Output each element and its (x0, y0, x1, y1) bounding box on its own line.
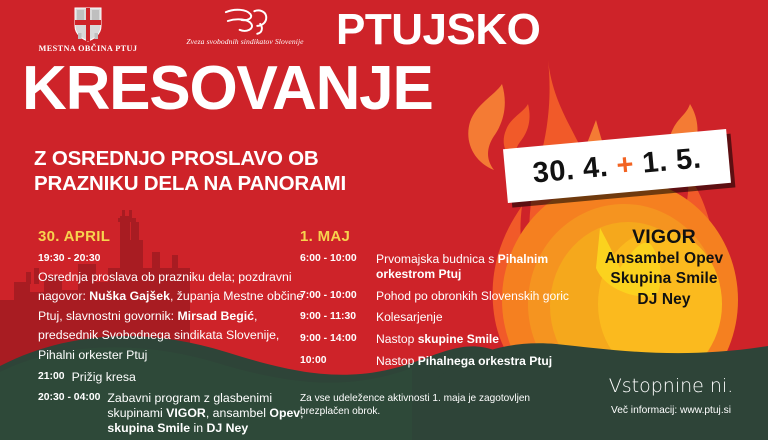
performer-name: Ansambel Opev (566, 249, 762, 269)
poster-root: MESTNA OBČINA PTUJ Zveza svobodnih sindi… (0, 0, 768, 440)
union-logo: Zveza svobodnih sindikatov Slovenije (160, 6, 330, 46)
schedule-column-april: 30. APRIL 19:30 - 20:30Osrednja proslava… (38, 228, 306, 440)
poster-subtitle-line2: PRAZNIKU DELA NA PANORAMI (34, 171, 346, 196)
event-time: 6:00 - 10:00 (300, 252, 376, 282)
event-description: Prvomajska budnica s Pihalnim orkestrom … (376, 252, 572, 282)
schedule-event: 19:30 - 20:30Osrednja proslava ob prazni… (38, 252, 306, 364)
event-description: Nastop Pihalnega orkestra Ptuj (376, 354, 552, 369)
date-separator-plus: + (615, 148, 635, 181)
event-time: 20:30 - 04:00 (38, 391, 100, 436)
schedule-note: Za vse udeležence aktivnosti 1. maja je … (300, 392, 572, 418)
event-description: Kolesarjenje (376, 310, 443, 325)
municipality-logo: MESTNA OBČINA PTUJ (28, 6, 148, 53)
free-entry-text: Vstopnine ni. (578, 375, 764, 397)
schedule-day-heading-april: 30. APRIL (38, 228, 306, 245)
logo-bar: MESTNA OBČINA PTUJ Zveza svobodnih sindi… (0, 4, 330, 56)
schedule-events-may: 6:00 - 10:00Prvomajska budnica s Pihalni… (300, 252, 572, 369)
municipality-logo-label: MESTNA OBČINA PTUJ (28, 44, 148, 53)
date-first: 30. 4. (531, 150, 609, 189)
event-description: Prižig kresa (72, 370, 136, 385)
event-time: 9:00 - 11:30 (300, 310, 376, 325)
event-description: Osrednja proslava ob prazniku dela; pozd… (38, 270, 303, 362)
event-description: Nastop skupine Smile (376, 332, 499, 347)
schedule-event: 9:00 - 14:00Nastop skupine Smile (300, 332, 572, 347)
schedule-event: 7:00 - 10:00Pohod po obronkih Slovenskih… (300, 289, 572, 304)
schedule-event: 6:00 - 10:00Prvomajska budnica s Pihalni… (300, 252, 572, 282)
date-badge-text: 30. 4. + 1. 5. (531, 142, 702, 190)
event-time: 10:00 (300, 354, 376, 369)
performers-panel: VIGOR Ansambel OpevSkupina SmileDJ Ney (566, 226, 762, 310)
event-time: 7:00 - 10:00 (300, 289, 376, 304)
schedule-column-may: 1. MAJ 6:00 - 10:00Prvomajska budnica s … (300, 228, 572, 376)
event-time: 9:00 - 14:00 (300, 332, 376, 347)
more-info-text[interactable]: Več informacij: www.ptuj.si (578, 405, 764, 416)
ptuj-coat-of-arms-icon (73, 6, 103, 42)
schedule-event: 9:00 - 11:30Kolesarjenje (300, 310, 572, 325)
poster-subtitle-line1: Z OSREDNJO PROSLAVO OB (34, 146, 346, 171)
event-description: Zabavni program z glasbenimi skupinami V… (107, 391, 306, 436)
performer-name: DJ Ney (566, 290, 762, 310)
event-time: 21:00 (38, 370, 65, 385)
poster-kicker: PTUJSKO (336, 8, 540, 52)
event-time: 19:30 - 20:30 (38, 252, 306, 266)
performer-headline: VIGOR (566, 226, 762, 249)
schedule-day-heading-may: 1. MAJ (300, 228, 572, 245)
performer-list: Ansambel OpevSkupina SmileDJ Ney (566, 249, 762, 310)
poster-title: KRESOVANJE (22, 58, 433, 120)
schedule-events-april: 19:30 - 20:30Osrednja proslava ob prazni… (38, 252, 306, 436)
zsss-monogram-icon (218, 6, 272, 36)
union-logo-label: Zveza svobodnih sindikatov Slovenije (160, 37, 330, 46)
date-second: 1. 5. (641, 142, 703, 179)
performer-name: Skupina Smile (566, 269, 762, 289)
schedule-event: 20:30 - 04:00Zabavni program z glasbenim… (38, 391, 306, 436)
poster-subtitle: Z OSREDNJO PROSLAVO OB PRAZNIKU DELA NA … (34, 146, 346, 197)
schedule-event: 21:00Prižig kresa (38, 370, 306, 385)
schedule-event: 10:00Nastop Pihalnega orkestra Ptuj (300, 354, 572, 369)
event-description: Pohod po obronkih Slovenskih goric (376, 289, 569, 304)
